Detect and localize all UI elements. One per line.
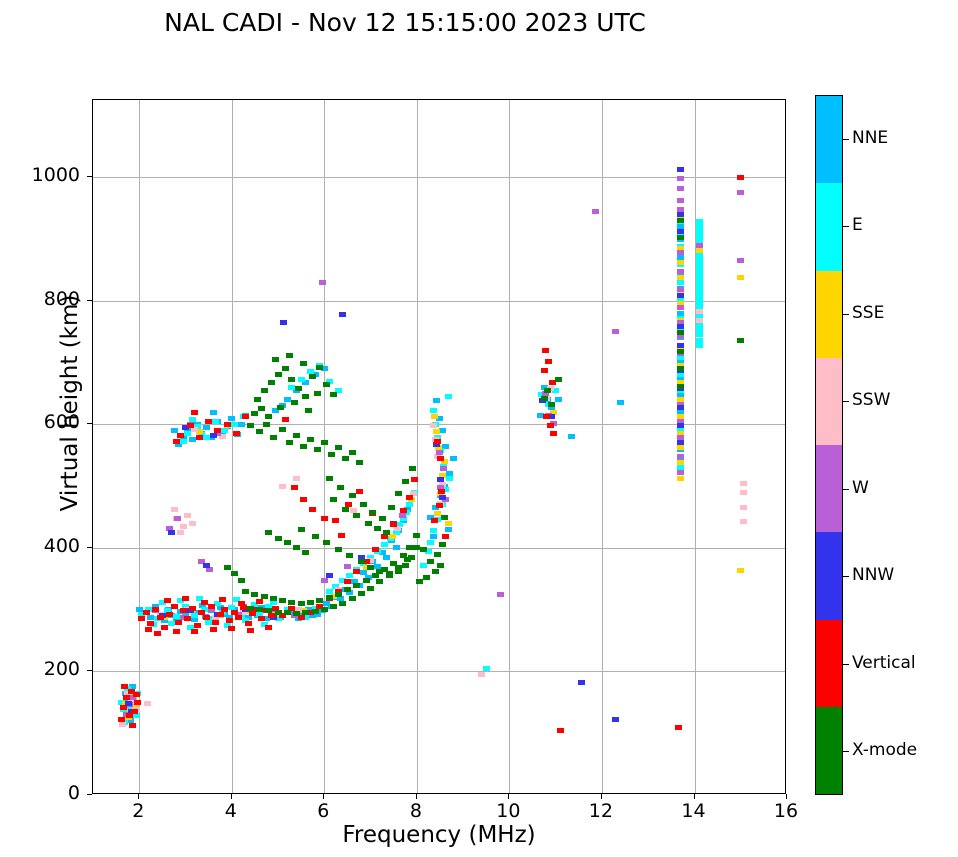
data-point	[439, 428, 446, 433]
data-point	[544, 388, 551, 393]
data-point	[437, 477, 444, 482]
data-point	[427, 559, 434, 564]
data-point	[696, 303, 703, 308]
data-point	[337, 485, 344, 490]
plot-area[interactable]	[92, 99, 786, 794]
data-point	[427, 540, 434, 545]
data-point	[208, 604, 215, 609]
data-point	[268, 613, 275, 618]
colorbar-tick	[843, 314, 849, 315]
data-point	[219, 597, 226, 602]
data-point	[238, 422, 245, 427]
y-axis-tick	[87, 794, 92, 795]
data-point	[191, 410, 198, 415]
data-point	[431, 518, 438, 523]
data-point	[300, 497, 307, 502]
x-axis-tick	[231, 794, 232, 799]
data-point	[265, 625, 272, 630]
data-point	[439, 495, 446, 500]
colorbar-tick-label: SSW	[852, 390, 890, 410]
data-point	[180, 608, 187, 613]
data-point	[696, 224, 703, 229]
data-point	[339, 601, 346, 606]
y-axis-tick	[87, 547, 92, 548]
data-point	[344, 587, 351, 592]
data-point	[696, 332, 703, 337]
data-point	[265, 414, 272, 419]
data-point	[420, 547, 427, 552]
data-point	[302, 550, 309, 555]
data-point	[737, 175, 744, 180]
data-point	[203, 563, 210, 568]
data-point	[275, 536, 282, 541]
data-point	[173, 439, 180, 444]
data-point	[189, 521, 196, 526]
data-point	[129, 723, 136, 728]
data-point	[242, 414, 249, 419]
data-point	[144, 701, 151, 706]
data-point	[677, 198, 684, 203]
data-point	[152, 607, 159, 612]
data-point	[265, 608, 272, 613]
data-point	[677, 330, 684, 335]
data-point	[677, 470, 684, 475]
data-point	[478, 672, 485, 677]
data-point	[279, 484, 286, 489]
data-point	[677, 454, 684, 459]
data-point	[256, 429, 263, 434]
data-point	[344, 564, 351, 569]
data-point	[437, 456, 444, 461]
data-point	[367, 586, 374, 591]
data-point	[134, 700, 141, 705]
data-point	[696, 254, 703, 259]
data-point	[411, 477, 418, 482]
data-point	[438, 489, 445, 494]
data-point	[696, 309, 703, 314]
data-point	[247, 423, 254, 428]
data-point	[173, 629, 180, 634]
data-point	[677, 212, 684, 217]
data-point	[291, 485, 298, 490]
data-point	[677, 355, 684, 360]
data-point	[677, 305, 684, 310]
data-point	[436, 450, 443, 455]
data-point	[214, 428, 221, 433]
x-axis-tick-label: 10	[478, 800, 538, 822]
data-point	[677, 343, 684, 348]
data-point	[298, 527, 305, 532]
data-point	[353, 569, 360, 574]
colorbar-segment-x-mode[interactable]	[816, 707, 842, 794]
data-point	[161, 625, 168, 630]
data-point	[677, 167, 684, 172]
data-point	[221, 428, 228, 433]
data-point	[372, 573, 379, 578]
data-point	[696, 259, 703, 264]
data-point	[233, 431, 240, 436]
data-point	[406, 502, 413, 507]
data-point	[677, 275, 684, 280]
y-axis-tick-label: 0	[0, 782, 80, 804]
data-point	[309, 374, 316, 379]
data-point	[123, 695, 130, 700]
data-point	[217, 612, 224, 617]
data-point	[568, 434, 575, 439]
data-point	[542, 348, 549, 353]
data-point	[288, 600, 295, 605]
data-point	[263, 422, 270, 427]
x-axis-tick	[786, 794, 787, 799]
data-point	[406, 545, 413, 550]
data-point	[677, 324, 684, 329]
data-point	[221, 607, 228, 612]
data-point	[284, 540, 291, 545]
data-point	[740, 481, 747, 486]
data-point	[268, 380, 275, 385]
data-point	[171, 507, 178, 512]
data-point	[247, 628, 254, 633]
data-point	[376, 579, 383, 584]
data-point	[293, 611, 300, 616]
data-point	[145, 627, 152, 632]
data-point	[737, 338, 744, 343]
data-point	[154, 631, 161, 636]
colorbar-segment-w[interactable]	[816, 445, 842, 532]
data-layer	[93, 100, 785, 793]
data-point	[383, 530, 390, 535]
data-point	[677, 229, 684, 234]
data-point	[305, 408, 312, 413]
data-point	[119, 722, 126, 727]
data-point	[206, 567, 213, 572]
y-axis-tick-label: 1000	[0, 164, 80, 186]
data-point	[677, 440, 684, 445]
y-axis-tick	[87, 670, 92, 671]
data-point	[737, 258, 744, 263]
colorbar-tick	[843, 664, 849, 665]
data-point	[696, 248, 703, 253]
data-point	[272, 357, 279, 362]
data-point	[258, 406, 265, 411]
x-axis-label: Frequency (MHz)	[92, 822, 786, 848]
data-point	[696, 229, 703, 234]
data-point	[696, 343, 703, 348]
colorbar-tick	[843, 401, 849, 402]
data-point	[740, 519, 747, 524]
data-point	[390, 522, 397, 527]
data-point	[696, 219, 703, 224]
data-point	[291, 400, 298, 405]
data-point	[346, 553, 353, 558]
data-point	[184, 431, 191, 436]
data-point	[436, 503, 443, 508]
data-point	[191, 629, 198, 634]
data-point	[696, 323, 703, 328]
data-point	[284, 610, 291, 615]
data-point	[555, 377, 562, 382]
data-point	[328, 452, 335, 457]
chart-title: NAL CADI - Nov 12 15:15:00 2023 UTC	[0, 8, 810, 37]
data-point	[307, 437, 314, 442]
data-point	[399, 513, 406, 518]
data-point	[677, 372, 684, 377]
colorbar[interactable]	[815, 95, 843, 795]
data-point	[409, 466, 416, 471]
data-point	[120, 705, 127, 710]
data-point	[358, 559, 365, 564]
x-axis-tick-label: 14	[664, 800, 724, 822]
data-point	[555, 397, 562, 402]
data-point	[677, 423, 684, 428]
data-point	[737, 568, 744, 573]
data-point	[677, 235, 684, 240]
data-point	[737, 190, 744, 195]
data-point	[423, 575, 430, 580]
data-point	[316, 598, 323, 603]
data-point	[344, 579, 351, 584]
colorbar-tick-label: E	[852, 215, 863, 235]
x-axis-tick	[323, 794, 324, 799]
colorbar-segment-nne[interactable]	[816, 96, 842, 183]
x-axis-tick	[508, 794, 509, 799]
data-point	[381, 567, 388, 572]
data-point	[677, 349, 684, 354]
data-point	[212, 419, 219, 424]
data-point	[293, 545, 300, 550]
data-point	[335, 445, 342, 450]
data-point	[261, 388, 268, 393]
data-point	[677, 269, 684, 274]
data-point	[548, 402, 555, 407]
data-point	[439, 542, 446, 547]
data-point	[330, 604, 337, 609]
data-point	[677, 186, 684, 191]
data-point	[374, 526, 381, 531]
data-point	[335, 592, 342, 597]
data-point	[261, 594, 268, 599]
data-point	[314, 391, 321, 396]
data-point	[282, 417, 289, 422]
data-point	[319, 280, 326, 285]
data-point	[356, 489, 363, 494]
data-point	[677, 384, 684, 389]
x-axis-tick-label: 6	[293, 800, 353, 822]
data-point	[242, 589, 249, 594]
data-point	[205, 419, 212, 424]
data-point	[445, 521, 452, 526]
data-point	[381, 534, 388, 539]
data-point	[238, 601, 245, 606]
colorbar-segment-e[interactable]	[816, 183, 842, 270]
data-point	[677, 287, 684, 292]
data-point	[300, 444, 307, 449]
data-point	[210, 410, 217, 415]
data-point	[389, 534, 396, 539]
data-point	[175, 620, 182, 625]
data-point	[696, 284, 703, 289]
data-point	[258, 616, 265, 621]
data-point	[302, 394, 309, 399]
y-axis-tick-label: 200	[0, 658, 80, 680]
y-axis-tick	[87, 300, 92, 301]
colorbar-segment-sse[interactable]	[816, 271, 842, 358]
colorbar-tick-label: NNW	[852, 565, 894, 585]
data-point	[251, 411, 258, 416]
x-axis-tick	[138, 794, 139, 799]
data-point	[740, 490, 747, 495]
data-point	[677, 405, 684, 410]
x-axis-tick	[694, 794, 695, 799]
data-point	[433, 429, 440, 434]
data-point	[238, 578, 245, 583]
data-point	[541, 368, 548, 373]
data-point	[696, 269, 703, 274]
data-point	[118, 717, 125, 722]
y-axis-label: Virtual height (km)	[57, 213, 83, 593]
data-point	[696, 288, 703, 293]
data-point	[332, 518, 339, 523]
data-point	[335, 547, 342, 552]
data-point	[612, 717, 619, 722]
data-point	[323, 382, 330, 387]
data-point	[147, 615, 154, 620]
data-point	[445, 394, 452, 399]
data-point	[557, 728, 564, 733]
colorbar-segment-vertical[interactable]	[816, 620, 842, 707]
data-point	[372, 547, 379, 552]
data-point	[177, 433, 184, 438]
data-point	[275, 610, 282, 615]
data-point	[286, 353, 293, 358]
data-point	[677, 476, 684, 481]
data-point	[224, 565, 231, 570]
data-point	[228, 416, 235, 421]
data-point	[677, 293, 684, 298]
data-point	[228, 626, 235, 631]
data-point	[256, 607, 263, 612]
data-point	[402, 479, 409, 484]
data-point	[369, 510, 376, 515]
data-point	[168, 530, 175, 535]
data-point	[696, 243, 703, 248]
x-axis-tick	[601, 794, 602, 799]
data-point	[367, 565, 374, 570]
colorbar-segment-ssw[interactable]	[816, 358, 842, 445]
data-point	[171, 604, 178, 609]
data-point	[434, 552, 441, 557]
data-point	[381, 542, 388, 547]
data-point	[592, 209, 599, 214]
data-point	[342, 507, 349, 512]
data-point	[483, 666, 490, 671]
data-point	[174, 516, 181, 521]
data-point	[321, 578, 328, 583]
data-point	[379, 516, 386, 521]
data-point	[210, 627, 217, 632]
data-point	[133, 713, 140, 718]
data-point	[321, 440, 328, 445]
data-point	[737, 275, 744, 280]
data-point	[430, 408, 437, 413]
data-point	[309, 507, 316, 512]
y-axis-tick	[87, 176, 92, 177]
data-point	[365, 521, 372, 526]
data-point	[245, 621, 252, 626]
data-point	[256, 599, 263, 604]
data-point	[393, 545, 400, 550]
data-point	[231, 422, 238, 427]
data-point	[180, 439, 187, 444]
data-point	[696, 234, 703, 239]
data-point	[383, 555, 390, 560]
y-axis-tick	[87, 423, 92, 424]
data-point	[270, 596, 277, 601]
data-point	[194, 623, 201, 628]
data-point	[254, 397, 261, 402]
data-point	[442, 534, 449, 539]
data-point	[578, 680, 585, 685]
colorbar-tick	[843, 489, 849, 490]
data-point	[395, 565, 402, 570]
data-point	[612, 329, 619, 334]
data-point	[349, 493, 356, 498]
data-point	[326, 595, 333, 600]
data-point	[437, 563, 444, 568]
data-point	[212, 620, 219, 625]
data-point	[416, 579, 423, 584]
data-point	[316, 365, 323, 370]
data-point	[677, 445, 684, 450]
data-point	[307, 600, 314, 605]
x-axis-tick-label: 2	[108, 800, 168, 822]
data-point	[157, 615, 164, 620]
data-point	[288, 377, 295, 382]
data-point	[293, 433, 300, 438]
data-point	[402, 563, 409, 568]
data-point	[543, 414, 550, 419]
data-point	[282, 366, 289, 371]
x-axis-tick	[416, 794, 417, 799]
colorbar-tick-label: NNE	[852, 128, 888, 148]
data-point	[349, 596, 356, 601]
data-point	[406, 495, 413, 500]
data-point	[321, 516, 328, 521]
data-point	[358, 591, 365, 596]
data-point	[388, 505, 395, 510]
data-point	[404, 557, 411, 562]
data-point	[321, 607, 328, 612]
data-point	[696, 279, 703, 284]
data-point	[164, 598, 171, 603]
data-point	[497, 592, 504, 597]
data-point	[224, 422, 231, 427]
data-point	[326, 573, 333, 578]
data-point	[433, 398, 440, 403]
ionogram-figure: NAL CADI - Nov 12 15:15:00 2023 UTC 2468…	[0, 0, 958, 857]
data-point	[131, 709, 138, 714]
colorbar-segment-nnw[interactable]	[816, 532, 842, 619]
data-point	[740, 505, 747, 510]
data-point	[430, 528, 437, 533]
colorbar-tick	[843, 576, 849, 577]
colorbar-tick-label: W	[852, 478, 869, 498]
data-point	[203, 425, 210, 430]
data-point	[298, 601, 305, 606]
data-point	[395, 491, 402, 496]
x-axis-tick-label: 16	[756, 800, 816, 822]
data-point	[353, 513, 360, 518]
